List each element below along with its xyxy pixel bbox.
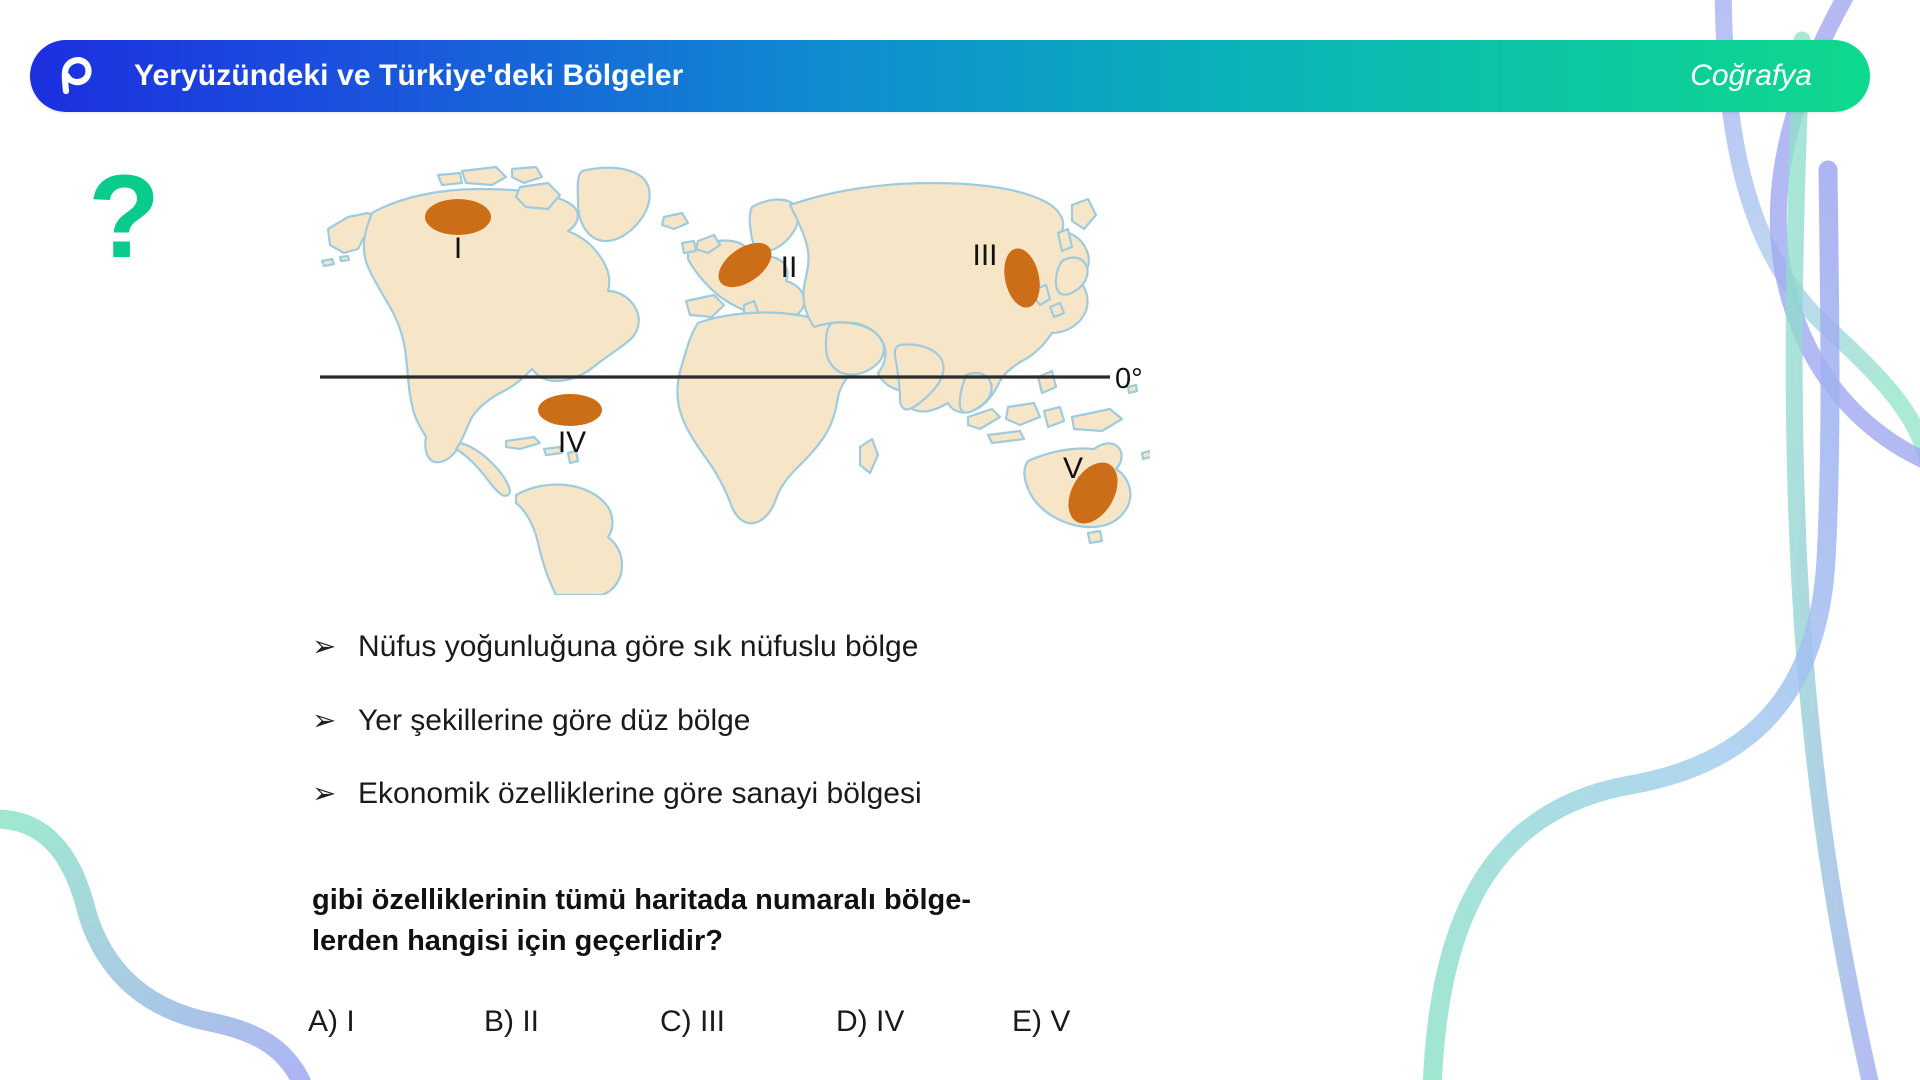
land-sumatra <box>968 409 1000 429</box>
question-mark-icon: ? <box>88 158 160 276</box>
world-map-figure: I II III IV V 0° <box>320 165 1150 595</box>
land-pacific-speck-b <box>1142 451 1150 459</box>
page-title: Yeryüzündeki ve Türkiye'deki Bölgeler <box>134 59 683 93</box>
land-japan-south <box>1050 303 1064 317</box>
arrow-bullet-icon: ➢ <box>312 780 358 809</box>
land-cuba <box>506 437 540 449</box>
region-marker-IV[interactable] <box>538 394 602 426</box>
land-java <box>988 431 1024 443</box>
land-madagascar <box>860 439 878 473</box>
feature-bullet-list: ➢ Nüfus yoğunluğuna göre sık nüfuslu böl… <box>312 630 1312 851</box>
land-aleutian-speck <box>340 256 349 261</box>
land-central-america <box>456 443 510 496</box>
header-banner: Yeryüzündeki ve Türkiye'deki Bölgeler Co… <box>30 40 1870 112</box>
world-map-svg: I II III IV V 0° <box>320 165 1150 595</box>
map-label-IV: IV <box>558 426 586 459</box>
land-arctic-island-b <box>512 167 542 183</box>
subject-badge-label: Coğrafya <box>1690 59 1812 93</box>
answer-option-b[interactable]: B) II <box>484 1005 660 1039</box>
land-iberia <box>686 295 724 317</box>
decor-curve-bottom-left <box>0 819 305 1080</box>
list-item: ➢ Yer şekillerine göre düz bölge <box>312 704 1312 739</box>
region-marker-I[interactable] <box>425 199 491 235</box>
map-label-I: I <box>454 232 462 265</box>
equator-degree-label: 0° <box>1115 363 1143 395</box>
list-item: ➢ Nüfus yoğunluğuna göre sık nüfuslu böl… <box>312 630 1312 665</box>
land-kamchatka <box>1072 199 1096 229</box>
answer-options-row: A) I B) II C) III D) IV E) V <box>308 1005 1208 1039</box>
bullet-text: Yer şekillerine göre düz bölge <box>358 704 750 739</box>
map-label-V: V <box>1063 452 1083 485</box>
land-new-guinea <box>1072 409 1122 431</box>
answer-option-c[interactable]: C) III <box>660 1005 836 1039</box>
land-arctic-island-c <box>438 173 462 185</box>
decor-curve-right-s <box>1432 170 1830 1080</box>
list-item: ➢ Ekonomik özelliklerine göre sanayi böl… <box>312 777 1312 812</box>
land-ireland <box>682 241 696 253</box>
bullet-text: Nüfus yoğunluğuna göre sık nüfuslu bölge <box>358 630 918 665</box>
map-label-II: II <box>781 251 798 284</box>
question-prompt-line-1: gibi özelliklerinin tümü haritada numara… <box>312 880 1212 921</box>
land-greenland <box>578 168 650 241</box>
arrow-bullet-icon: ➢ <box>312 707 358 736</box>
decor-curve-right-vertical <box>1794 40 1872 1080</box>
land-indochina <box>960 373 992 413</box>
question-prompt: gibi özelliklerinin tümü haritada numara… <box>312 880 1212 962</box>
land-tasmania <box>1088 531 1102 543</box>
map-label-III: III <box>972 239 997 272</box>
question-prompt-line-2: lerden hangisi için geçerlidir? <box>312 921 1212 962</box>
land-south-america <box>516 484 622 595</box>
land-arctic-island-a <box>462 167 506 185</box>
answer-option-d[interactable]: D) IV <box>836 1005 1012 1039</box>
land-borneo <box>1006 403 1040 425</box>
land-iceland <box>662 213 688 229</box>
answer-option-a[interactable]: A) I <box>308 1005 484 1039</box>
bullet-text: Ekonomik özelliklerine göre sanayi bölge… <box>358 777 922 812</box>
land-aleutians <box>322 259 334 266</box>
arrow-bullet-icon: ➢ <box>312 633 358 662</box>
p-brand-logo-icon <box>52 53 98 99</box>
land-philippines <box>1038 371 1056 393</box>
answer-option-e[interactable]: E) V <box>1012 1005 1188 1039</box>
land-sulawesi <box>1044 407 1064 427</box>
